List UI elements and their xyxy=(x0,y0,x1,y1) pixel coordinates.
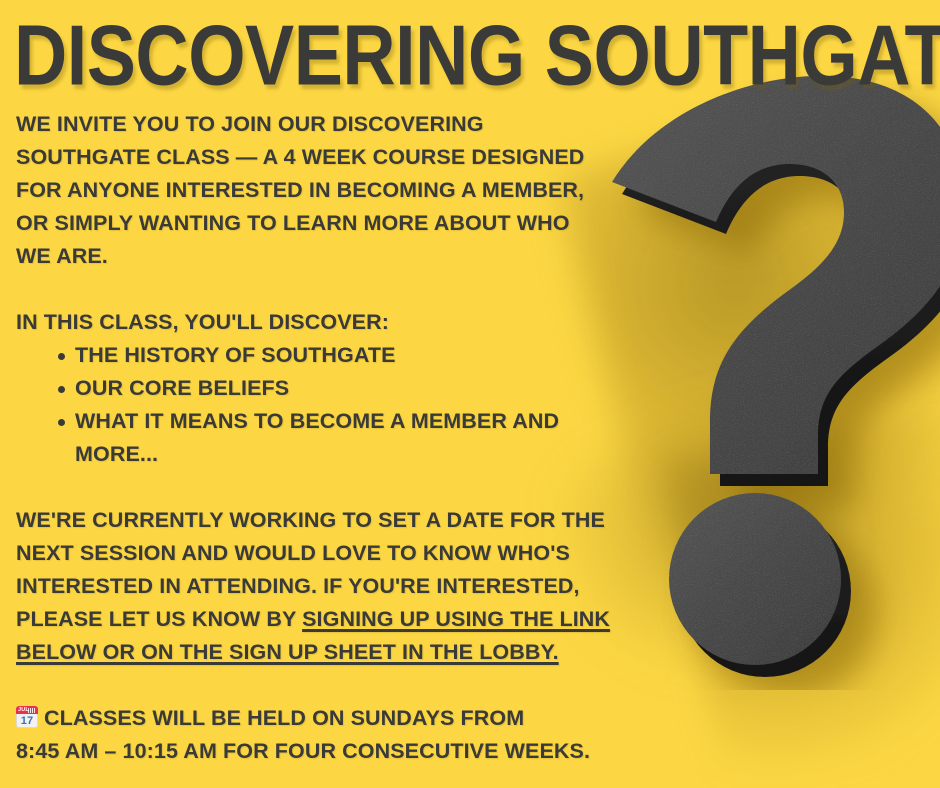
schedule-text-1: CLASSES WILL BE HELD ON SUNDAYS FROM xyxy=(44,706,524,730)
poster-body: WE INVITE YOU TO JOIN OUR DISCOVERING SO… xyxy=(16,108,616,768)
signup-line-1: WE'RE CURRENTLY WORKING TO SET A DATE FO… xyxy=(16,504,616,537)
intro-line-3: FOR ANYONE INTERESTED IN BECOMING A MEMB… xyxy=(16,174,616,207)
intro-line-2: SOUTHGATE CLASS — A 4 WEEK COURSE DESIGN… xyxy=(16,141,616,174)
calendar-rings-icon xyxy=(28,708,36,713)
intro-paragraph: WE INVITE YOU TO JOIN OUR DISCOVERING SO… xyxy=(16,108,616,273)
schedule-line-2: 8:45 AM – 10:15 AM FOR FOUR CONSECUTIVE … xyxy=(16,735,616,768)
discover-list: THE HISTORY OF SOUTHGATE OUR CORE BELIEF… xyxy=(16,339,616,471)
question-mark-icon xyxy=(560,70,940,690)
list-item-label: OUR CORE BELIEFS xyxy=(75,376,289,400)
signup-line-2: NEXT SESSION AND WOULD LOVE TO KNOW WHO'… xyxy=(16,537,616,570)
calendar-icon: JUL17 xyxy=(16,706,38,728)
spacer-2 xyxy=(16,471,616,504)
signup-lead-tail: PLEASE LET US KNOW BY xyxy=(16,607,302,631)
list-item-label: WHAT IT MEANS TO BECOME A MEMBER AND MOR… xyxy=(75,409,559,466)
signup-line-3: INTERESTED IN ATTENDING. IF YOU'RE INTER… xyxy=(16,570,616,603)
signup-line-4: PLEASE LET US KNOW BY SIGNING UP USING T… xyxy=(16,603,616,669)
poster-title: DISCOVERING SOUTHGATE xyxy=(14,14,790,99)
poster-canvas: DISCOVERING SOUTHGATE WE INVITE YOU TO J… xyxy=(0,0,940,788)
schedule-line-1: JUL17CLASSES WILL BE HELD ON SUNDAYS FRO… xyxy=(16,702,616,735)
spacer-3 xyxy=(16,669,616,702)
list-item: WHAT IT MEANS TO BECOME A MEMBER AND MOR… xyxy=(58,405,616,471)
list-heading: IN THIS CLASS, YOU'LL DISCOVER: xyxy=(16,306,616,339)
intro-line-4: OR SIMPLY WANTING TO LEARN MORE ABOUT WH… xyxy=(16,207,616,240)
graphic-shadow-lower xyxy=(664,405,940,786)
schedule-paragraph: JUL17CLASSES WILL BE HELD ON SUNDAYS FRO… xyxy=(16,702,616,768)
list-item: OUR CORE BELIEFS xyxy=(58,372,616,405)
spacer-1 xyxy=(16,273,616,306)
calendar-day: 17 xyxy=(16,714,38,728)
list-item: THE HISTORY OF SOUTHGATE xyxy=(58,339,616,372)
intro-line-1: WE INVITE YOU TO JOIN OUR DISCOVERING xyxy=(16,108,616,141)
intro-line-5: WE ARE. xyxy=(16,240,616,273)
signup-paragraph: WE'RE CURRENTLY WORKING TO SET A DATE FO… xyxy=(16,504,616,669)
list-item-label: THE HISTORY OF SOUTHGATE xyxy=(75,343,396,367)
